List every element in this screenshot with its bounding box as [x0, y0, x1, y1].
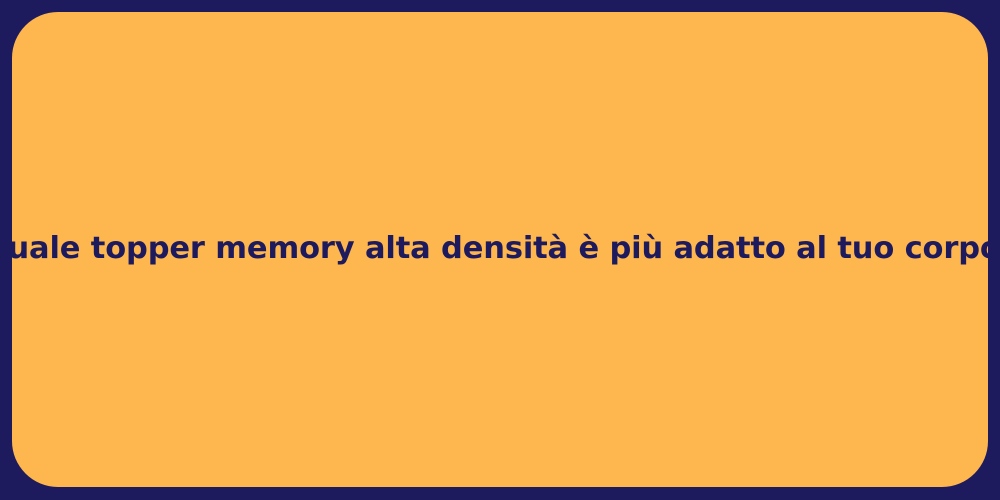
banner-frame: Quale topper memory alta densità è più a…	[0, 0, 1000, 500]
headline-text: Quale topper memory alta densità è più a…	[0, 230, 1000, 268]
banner-card: Quale topper memory alta densità è più a…	[12, 12, 988, 487]
